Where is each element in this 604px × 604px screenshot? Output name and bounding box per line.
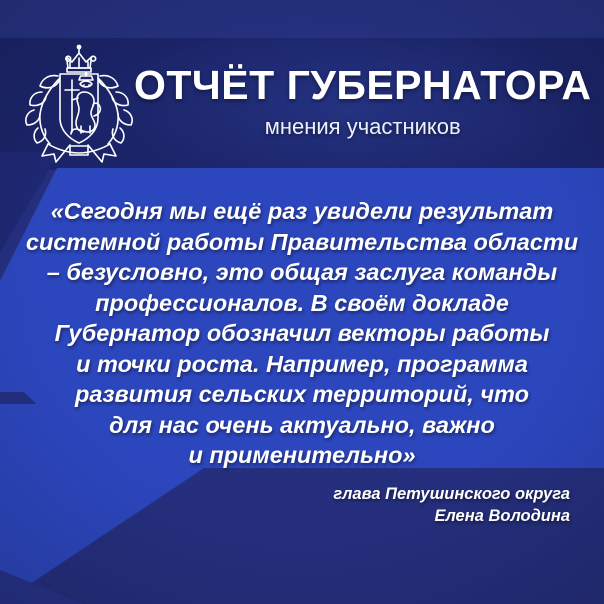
attribution: глава Петушинского округа Елена Володина [333, 484, 570, 528]
attribution-name: Елена Володина [333, 506, 570, 528]
quote-block: «Сегодня мы ещё раз увидели результат си… [0, 196, 604, 471]
quote-text: «Сегодня мы ещё раз увидели результат си… [18, 196, 586, 471]
poster-card: ОТЧЁТ ГУБЕРНАТОРА мнения участников «Сег… [0, 0, 604, 604]
header-text-group: ОТЧЁТ ГУБЕРНАТОРА мнения участников [134, 65, 604, 139]
page-title: ОТЧЁТ ГУБЕРНАТОРА [134, 65, 591, 107]
attribution-role: глава Петушинского округа [333, 484, 570, 506]
page-subtitle: мнения участников [134, 115, 591, 139]
poster-header: ОТЧЁТ ГУБЕРНАТОРА мнения участников [0, 32, 604, 172]
coat-of-arms-icon [24, 40, 134, 164]
